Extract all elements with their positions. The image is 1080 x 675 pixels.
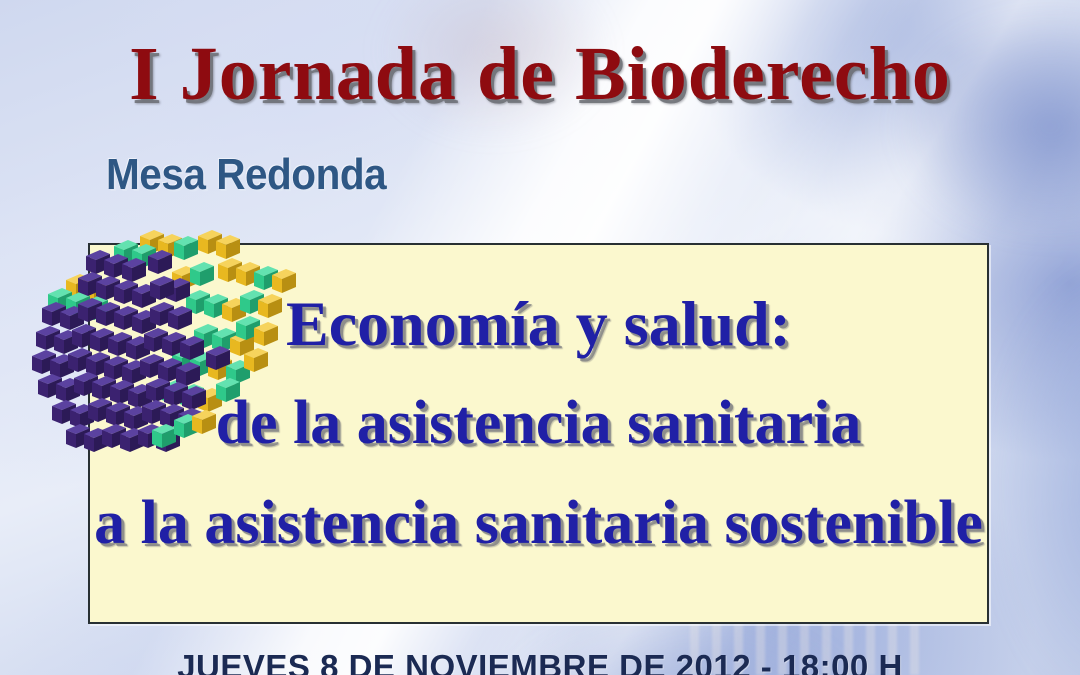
event-date-time: JUEVES 8 DE NOVIEMBRE DE 2012 - 18:00 H — [0, 648, 1080, 675]
content-panel-text: Economía y salud: de la asistencia sanit… — [88, 243, 989, 624]
subtitle: Mesa Redonda — [106, 153, 386, 197]
panel-line-2: de la asistencia sanitaria — [216, 392, 862, 455]
page-title: I Jornada de Bioderecho — [0, 36, 1080, 112]
poster-canvas: I Jornada de Bioderecho Mesa Redonda — [0, 0, 1080, 675]
panel-line-3: a la asistencia sanitaria sostenible — [94, 492, 983, 555]
panel-line-1: Economía y salud: — [286, 291, 791, 356]
